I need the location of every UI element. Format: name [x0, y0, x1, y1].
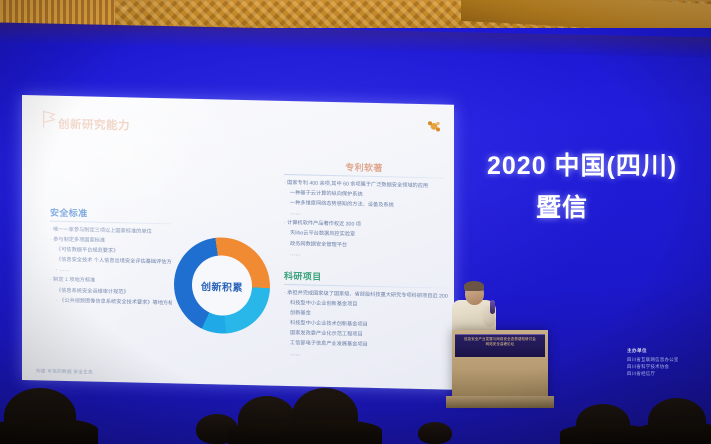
- audience-shoulder: [282, 420, 382, 444]
- bullet-item: · 《公共视频图像信息系统安全技术要求》等地方标准 2 项: [50, 296, 172, 308]
- projected-slide: 创新研究能力 创新积累 安全标准 · 唯一一家参与制定三项以上国家标准的单位 ·…: [22, 95, 454, 390]
- organizers-title: 主办单位: [627, 348, 679, 354]
- corner-logo-icon: [426, 118, 442, 134]
- conference-photo: 创新研究能力 创新积累 安全标准 · 唯一一家参与制定三项以上国家标准的单位 ·…: [0, 0, 711, 444]
- slide-title: 创新研究能力: [58, 116, 130, 134]
- section-project-heading: 科研项目: [284, 269, 449, 286]
- organizers-block: 主办单位 四川省互联网信息办公室 四川省科学技术协会 四川省经信厅: [627, 348, 679, 377]
- section-patent-heading: 专利软著: [284, 159, 444, 176]
- divider: [50, 221, 172, 225]
- section-security: 安全标准 · 唯一一家参与制定三项以上国家标准的单位 · 参与制定多项国家标准 …: [50, 206, 172, 310]
- section-security-heading: 安全标准: [50, 206, 172, 222]
- audience-shoulder: [634, 422, 711, 444]
- podium-base: [446, 396, 554, 408]
- organizer-item: 四川省互联网信息办公室: [627, 357, 679, 364]
- organizer-item: 四川省经信厅: [627, 371, 679, 378]
- section-project: 科研项目 · 承担并完成国家级了国家级、省部级科技重大研究专项科研项目近 200…: [284, 269, 449, 363]
- donut-chart: 创新积累: [174, 236, 270, 334]
- podium-banner-line2: 网络安全高峰论坛: [459, 342, 541, 347]
- podium-banner-text: 信息安全产业发展与网络安全态势感知研讨会 网络安全高峰论坛: [459, 337, 541, 347]
- microphone-icon: [490, 300, 495, 314]
- speaker-hair: [464, 281, 484, 291]
- audience-head: [418, 422, 452, 444]
- flag-icon: [40, 109, 58, 129]
- backdrop-headline-line2: 暨信: [536, 188, 711, 224]
- slide-footer: 构建 可信的数据 安全生态: [36, 368, 93, 375]
- section-patent: 专利软著 · 国家专利 400 余项,其中 60 余项属于广泛数据安全领域的应用…: [284, 159, 444, 263]
- audience-shoulder: [0, 418, 98, 444]
- donut-center-label: 创新积累: [174, 236, 270, 334]
- organizer-item: 四川省科学技术协会: [627, 364, 679, 371]
- backdrop-headline-line1: 2020 中国(四川): [487, 146, 711, 182]
